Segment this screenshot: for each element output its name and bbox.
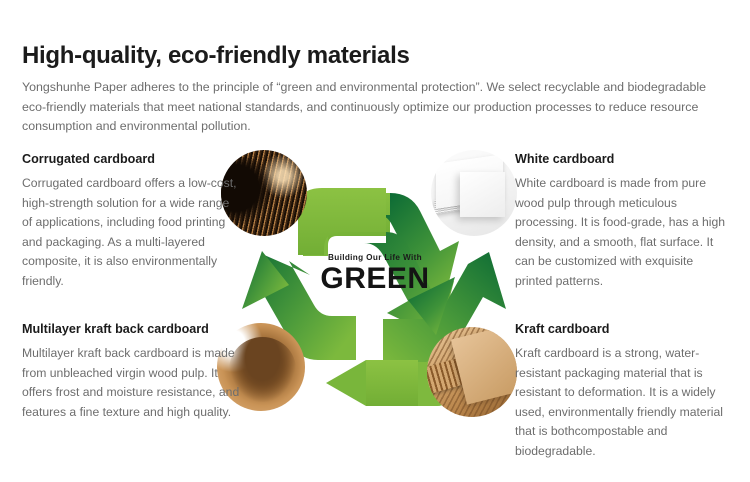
recycling-graphic: Building Our Life With GREEN <box>205 145 545 455</box>
page-title: High-quality, eco-friendly materials <box>22 42 410 70</box>
material-block-corrugated: Corrugated cardboard Corrugated cardboar… <box>22 152 237 292</box>
material-block-multilayer: Multilayer kraft back cardboard Multilay… <box>22 322 240 422</box>
kraft-cardboard-photo <box>427 327 517 417</box>
kraft-panel-layer <box>450 327 517 404</box>
material-heading-multilayer: Multilayer kraft back cardboard <box>22 322 240 337</box>
page-root: High-quality, eco-friendly materials Yon… <box>0 0 750 482</box>
material-heading-corrugated: Corrugated cardboard <box>22 152 237 167</box>
material-block-white: White cardboard White cardboard is made … <box>515 152 733 292</box>
material-body-corrugated: Corrugated cardboard offers a low-cost, … <box>22 174 237 292</box>
material-heading-kraft: Kraft cardboard <box>515 322 737 337</box>
material-body-white: White cardboard is made from pure wood p… <box>515 174 733 292</box>
white-sheet-front <box>460 172 505 217</box>
material-body-kraft: Kraft cardboard is a strong, water-resis… <box>515 344 737 462</box>
white-cardboard-photo <box>431 150 517 236</box>
material-heading-white: White cardboard <box>515 152 733 167</box>
intro-paragraph: Yongshunhe Paper adheres to the principl… <box>22 78 728 137</box>
material-block-kraft: Kraft cardboard Kraft cardboard is a str… <box>515 322 737 462</box>
material-body-multilayer: Multilayer kraft back cardboard is made … <box>22 344 240 422</box>
